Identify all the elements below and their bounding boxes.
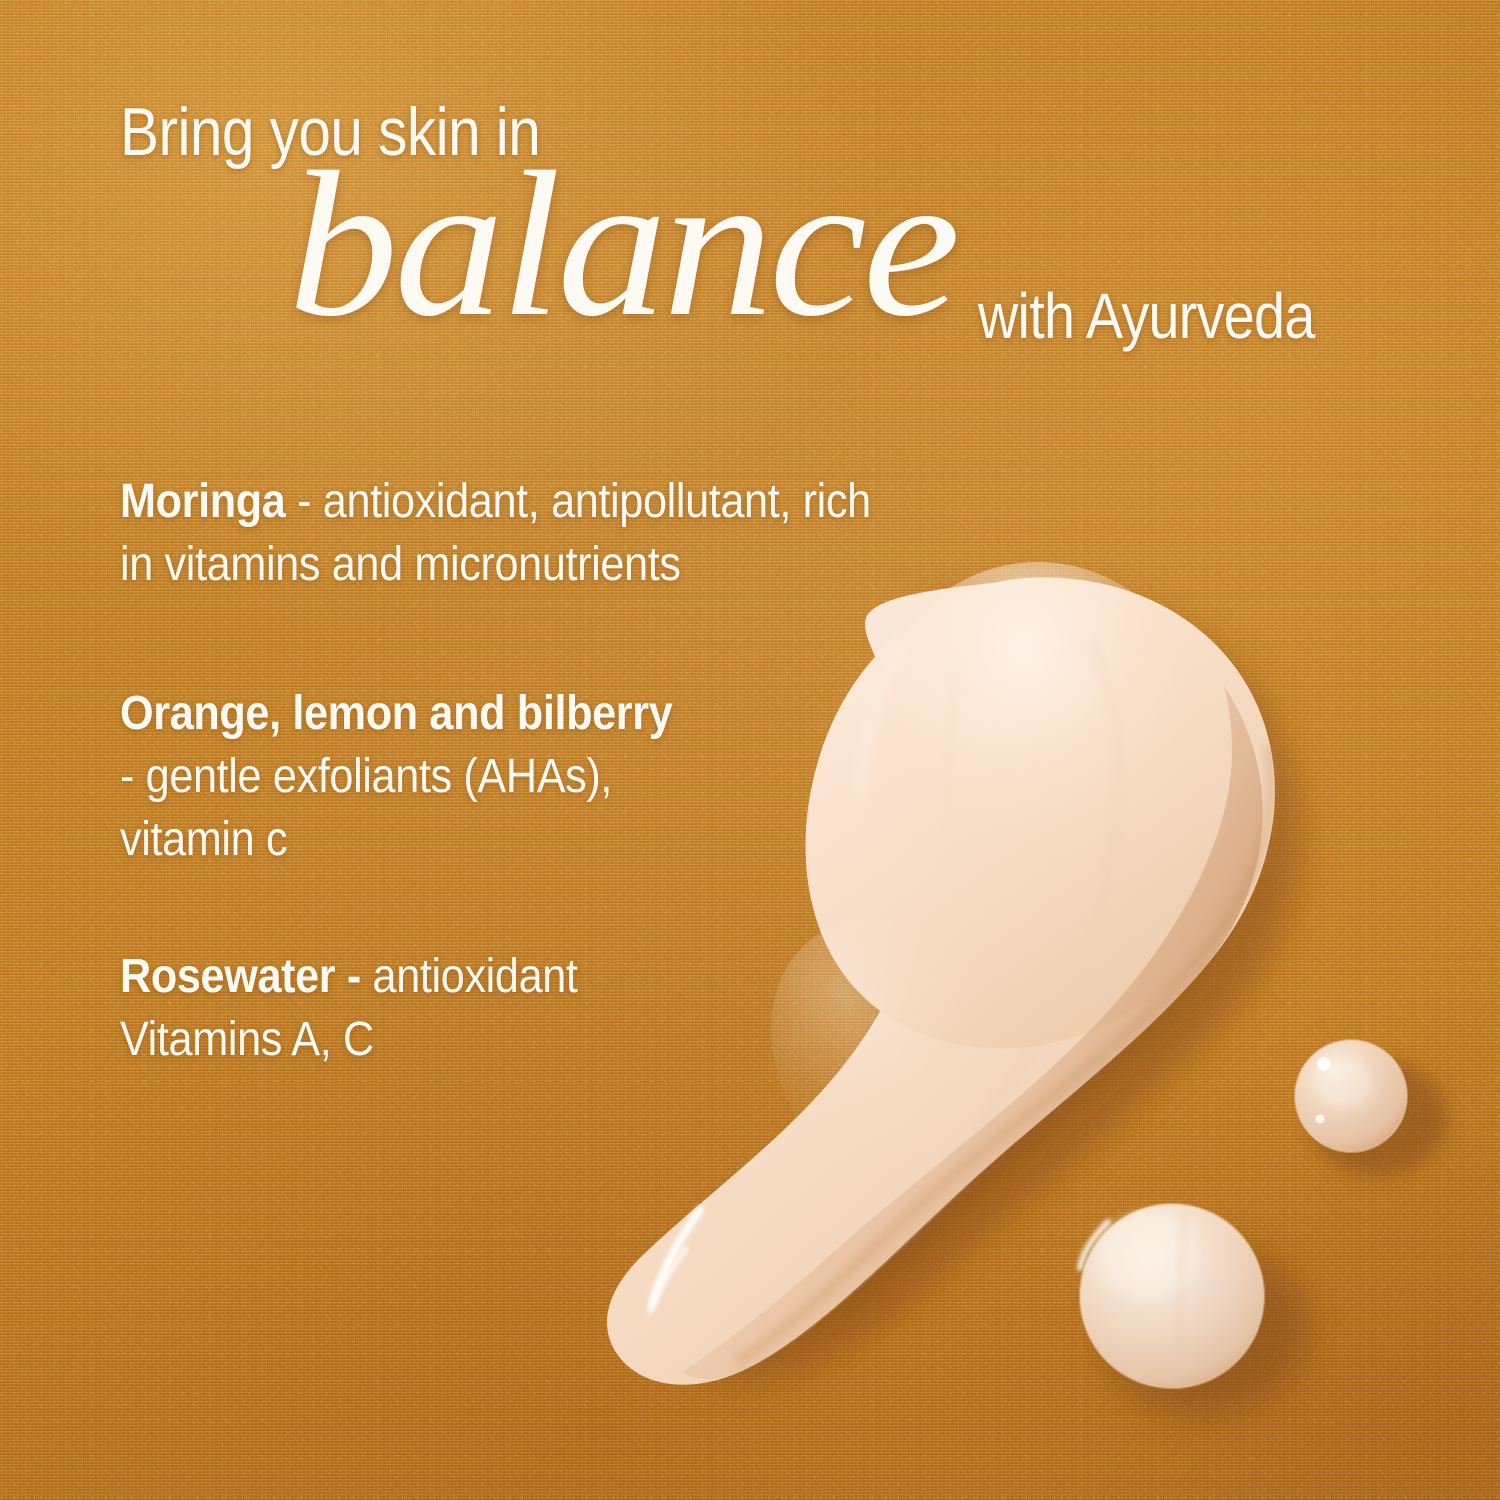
headline-tail: with Ayurveda (978, 284, 1315, 348)
ingredient-name: Rosewater - (120, 950, 361, 1003)
ingredient-list: Moringa - antioxidant, antipollutant, ri… (120, 470, 910, 1071)
ingredient-item-moringa: Moringa - antioxidant, antipollutant, ri… (120, 470, 912, 596)
ingredient-item-citrus: Orange, lemon and bilberry - gentle exfo… (120, 682, 696, 871)
ingredient-description: - gentle exfoliants (AHAs), vitamin c (120, 750, 612, 866)
text-layer: Bring you skin in balance with Ayurveda … (0, 0, 1500, 1500)
product-infographic-canvas: Bring you skin in balance with Ayurveda … (0, 0, 1500, 1500)
ingredient-item-rosewater: Rosewater - antioxidant Vitamins A, C (120, 945, 624, 1071)
ingredient-name: Moringa (120, 475, 285, 528)
ingredient-name: Orange, lemon and bilberry (120, 687, 672, 740)
headline-line-2: balance with Ayurveda (120, 162, 1480, 332)
headline-script-word: balance (288, 140, 956, 348)
headline-block: Bring you skin in balance with Ayurveda (120, 96, 1480, 332)
